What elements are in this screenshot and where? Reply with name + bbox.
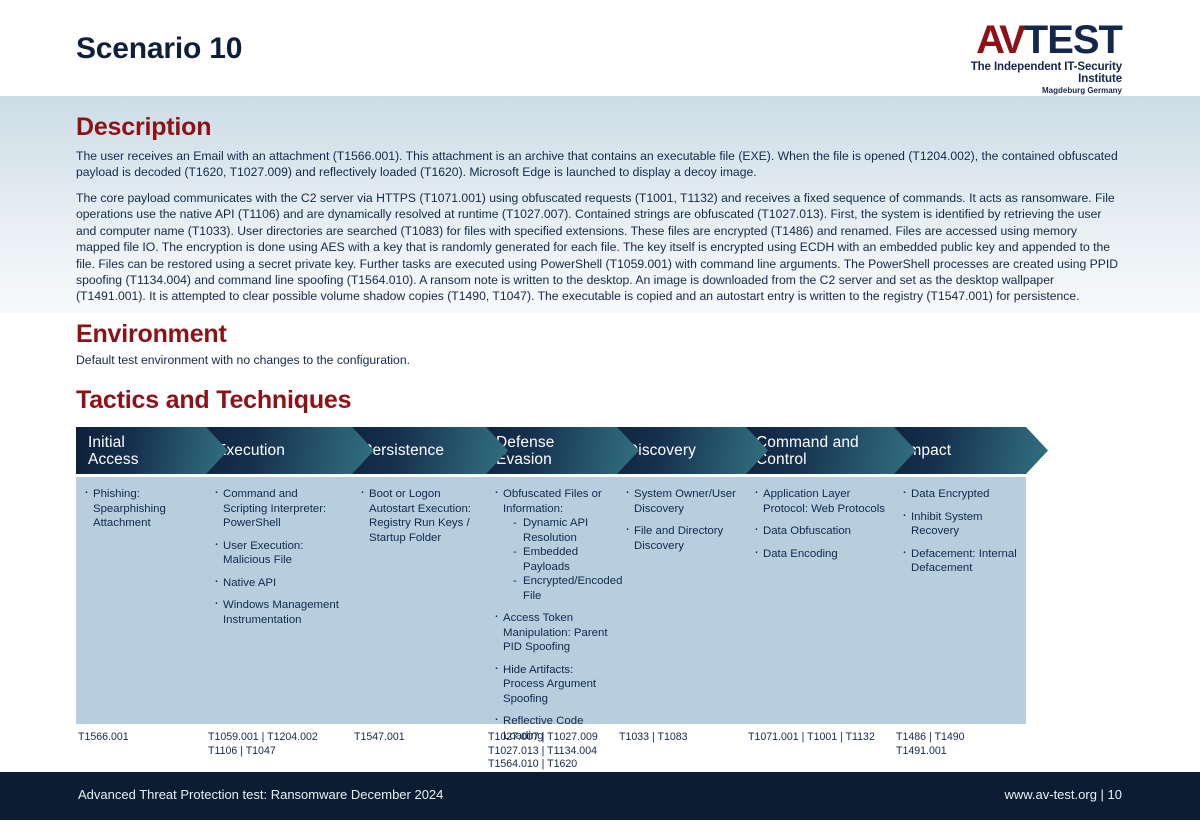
page-header: Scenario 10 AV TEST The Independent IT-S… [0,0,1200,96]
technique-panel: Boot or Logon Autostart Execution: Regis… [352,477,486,724]
technique-list: Data EncryptedInhibit System RecoveryDef… [900,487,1018,576]
technique-item: File and Directory Discovery [623,524,738,553]
tactic-column: ImpactData EncryptedInhibit System Recov… [894,427,1026,772]
technique-item: Data Obfuscation [752,524,886,539]
footer-url-page: www.av-test.org | 10 [1004,787,1122,802]
technique-item: Access Token Manipulation: Parent PID Sp… [492,611,609,655]
technique-ids: T1547.001 [352,731,486,745]
technique-item: Application Layer Protocol: Web Protocol… [752,487,886,516]
technique-panel: Application Layer Protocol: Web Protocol… [746,477,894,724]
tactic-chevron-header: Initial Access [76,427,206,474]
technique-ids: T1071.001 | T1001 | T1132 [746,731,894,745]
technique-item: Native API [212,576,344,591]
logo-tagline: The Independent IT-Security Institute [942,61,1122,85]
technique-panel: Command and Scripting Interpreter: Power… [206,477,352,724]
logo-location: Magdeburg Germany [942,86,1122,95]
technique-item: User Execution: Malicious File [212,539,344,568]
technique-panel: System Owner/User DiscoveryFile and Dire… [617,477,746,724]
technique-ids: T1033 | T1083 [617,731,746,745]
environment-heading: Environment [76,320,227,349]
tactic-column: ExecutionCommand and Scripting Interpret… [206,427,352,772]
tactics-matrix: Initial AccessPhishing: Spearphishing At… [76,427,1076,755]
tactic-column: DiscoverySystem Owner/User DiscoveryFile… [617,427,746,772]
technique-ids: T1486 | T1490 T1491.001 [894,731,1026,758]
av-test-logo: AV TEST The Independent IT-Security Inst… [942,20,1122,82]
technique-ids: T1566.001 [76,731,206,745]
technique-item: Data Encrypted [900,487,1018,502]
report-page: Scenario 10 AV TEST The Independent IT-S… [0,0,1200,837]
technique-list: Application Layer Protocol: Web Protocol… [752,487,886,561]
technique-item: Phishing: Spearphishing Attachment [82,487,198,531]
technique-item: Boot or Logon Autostart Execution: Regis… [358,487,478,545]
technique-item: Defacement: Internal Defacement [900,547,1018,576]
logo-test-text: TEST [1024,21,1122,59]
technique-item: Inhibit System Recovery [900,510,1018,539]
sub-technique-list: Dynamic API ResolutionEmbedded PayloadsE… [503,516,609,603]
technique-item: Obfuscated Files or Information:Dynamic … [492,487,609,603]
technique-panel: Phishing: Spearphishing Attachment [76,477,206,724]
description-heading: Description [76,113,211,142]
footer-test-name: Advanced Threat Protection test: Ransomw… [78,787,443,802]
technique-panel: Obfuscated Files or Information:Dynamic … [486,477,617,724]
sub-technique-item: Embedded Payloads [513,545,609,574]
technique-list: Boot or Logon Autostart Execution: Regis… [358,487,478,545]
technique-list: Phishing: Spearphishing Attachment [82,487,198,531]
tactic-chevron-header: Command and Control [746,427,894,474]
technique-item: Data Encoding [752,547,886,562]
description-paragraph-2: The core payload communicates with the C… [76,190,1124,305]
sub-technique-item: Dynamic API Resolution [513,516,609,545]
logo-av-text: AV [976,21,1023,59]
tactic-column: Defense EvasionObfuscated Files or Infor… [486,427,617,772]
technique-panel: Data EncryptedInhibit System RecoveryDef… [894,477,1026,724]
tactic-name: Initial Access [76,434,139,468]
page-footer: Advanced Threat Protection test: Ransomw… [0,772,1200,820]
tactic-column: Initial AccessPhishing: Spearphishing At… [76,427,206,772]
technique-item: System Owner/User Discovery [623,487,738,516]
logo-wordmark: AV TEST [942,20,1122,60]
technique-item: Reflective Code Loading [492,714,609,743]
technique-item: Hide Artifacts: Process Argument Spoofin… [492,663,609,707]
technique-list: Obfuscated Files or Information:Dynamic … [492,487,609,743]
tactics-heading: Tactics and Techniques [76,386,351,415]
technique-item: Windows Management Instrumentation [212,598,344,627]
technique-ids: T1059.001 | T1204.002 T1106 | T1047 [206,731,352,758]
technique-item: Command and Scripting Interpreter: Power… [212,487,344,531]
sub-technique-item: Encrypted/Encoded File [513,574,609,603]
technique-list: System Owner/User DiscoveryFile and Dire… [623,487,738,553]
environment-text: Default test environment with no changes… [76,352,776,368]
tactic-column: PersistenceBoot or Logon Autostart Execu… [352,427,486,772]
technique-list: Command and Scripting Interpreter: Power… [212,487,344,627]
tactic-column: Command and ControlApplication Layer Pro… [746,427,894,772]
page-title: Scenario 10 [76,32,242,66]
description-paragraph-1: The user receives an Email with an attac… [76,148,1122,181]
tactics-columns: Initial AccessPhishing: Spearphishing At… [76,427,1076,772]
